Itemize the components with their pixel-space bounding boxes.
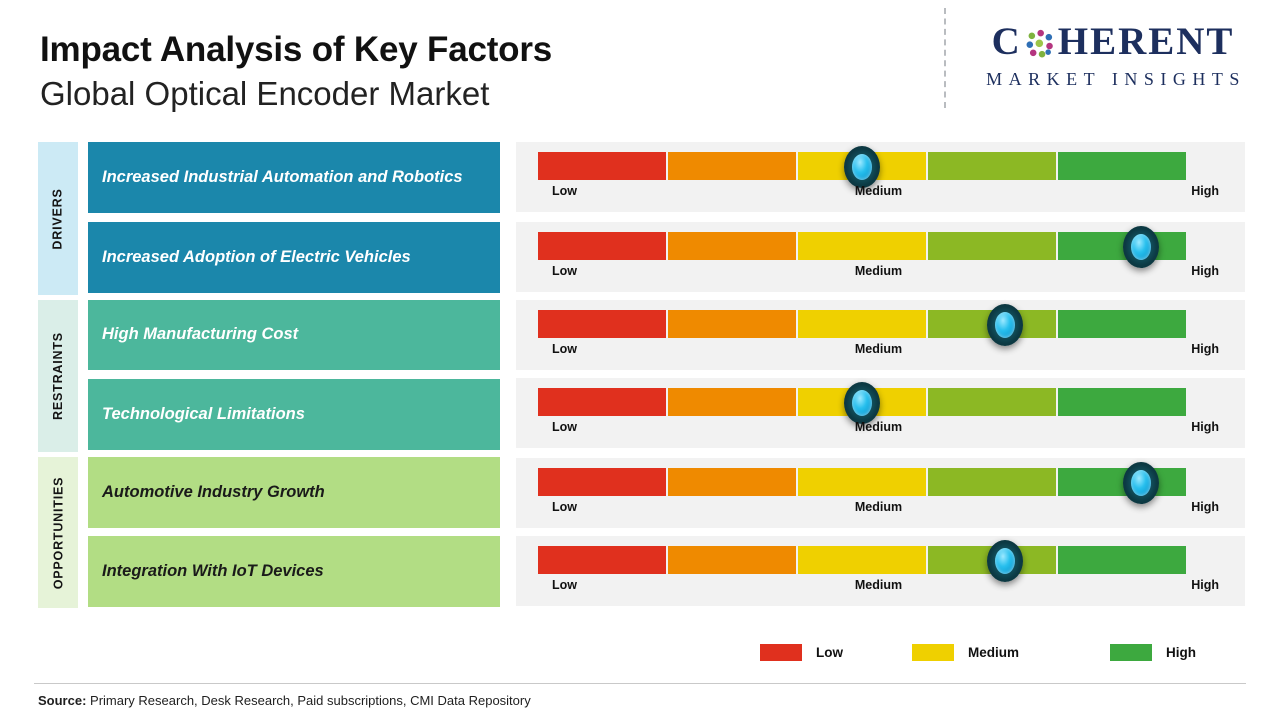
scale-segment xyxy=(1058,152,1186,180)
category-strip-opportunities: OPPORTUNITIES xyxy=(38,457,78,608)
impact-scale-bar xyxy=(538,232,1186,260)
scale-label-medium: Medium xyxy=(855,420,902,434)
scale-label-medium: Medium xyxy=(855,342,902,356)
scale-tick-labels: Low Medium High xyxy=(538,420,1219,438)
impact-scale-bar xyxy=(538,546,1186,574)
category-strip-restraints: RESTRAINTS xyxy=(38,300,78,452)
gauge-panel: Low Medium High xyxy=(516,536,1245,606)
legend-swatch-high xyxy=(1110,644,1152,661)
scale-segment xyxy=(668,546,798,574)
scale-tick-labels: Low Medium High xyxy=(538,184,1219,202)
legend-label: High xyxy=(1166,645,1196,660)
legend-swatch-low xyxy=(760,644,802,661)
scale-segment xyxy=(538,152,668,180)
category-label: DRIVERS xyxy=(51,188,65,249)
legend-label: Medium xyxy=(968,645,1019,660)
scale-tick-labels: Low Medium High xyxy=(538,264,1219,282)
impact-marker[interactable] xyxy=(844,146,880,188)
scale-segment xyxy=(538,232,668,260)
scale-label-high: High xyxy=(1191,264,1219,278)
scale-label-high: High xyxy=(1191,420,1219,434)
scale-segment xyxy=(1058,310,1186,338)
factor-box[interactable]: Increased Industrial Automation and Robo… xyxy=(88,142,500,213)
legend-item-low: Low xyxy=(760,644,843,661)
gauge-panel: Low Medium High xyxy=(516,222,1245,292)
scale-segment xyxy=(538,388,668,416)
impact-scale-bar xyxy=(538,310,1186,338)
scale-segment xyxy=(798,468,928,496)
impact-marker[interactable] xyxy=(987,304,1023,346)
footer-divider xyxy=(34,683,1246,684)
scale-label-low: Low xyxy=(552,420,577,434)
factor-label: Integration With IoT Devices xyxy=(102,561,324,582)
impact-marker[interactable] xyxy=(987,540,1023,582)
impact-marker[interactable] xyxy=(1123,462,1159,504)
scale-segment xyxy=(668,310,798,338)
category-label: OPPORTUNITIES xyxy=(51,476,65,589)
factor-label: Increased Adoption of Electric Vehicles xyxy=(102,247,411,268)
source-note: Source: Primary Research, Desk Research,… xyxy=(38,693,531,708)
gauge-panel: Low Medium High xyxy=(516,378,1245,448)
impact-matrix: DRIVERS RESTRAINTS OPPORTUNITIES Increas… xyxy=(0,0,1280,720)
scale-segment xyxy=(928,468,1058,496)
factor-label: Automotive Industry Growth xyxy=(102,482,325,503)
scale-segment xyxy=(928,152,1058,180)
scale-segment xyxy=(928,388,1058,416)
legend-swatch-medium xyxy=(912,644,954,661)
scale-label-high: High xyxy=(1191,500,1219,514)
factor-box[interactable]: Automotive Industry Growth xyxy=(88,457,500,528)
legend: Low Medium High xyxy=(760,644,1200,670)
scale-tick-labels: Low Medium High xyxy=(538,500,1219,518)
gauge-panel: Low Medium High xyxy=(516,458,1245,528)
scale-label-medium: Medium xyxy=(855,500,902,514)
scale-segment xyxy=(668,468,798,496)
source-label: Source: xyxy=(38,693,86,708)
category-label: RESTRAINTS xyxy=(51,332,65,420)
scale-tick-labels: Low Medium High xyxy=(538,578,1219,596)
scale-label-high: High xyxy=(1191,578,1219,592)
gauge-panel: Low Medium High xyxy=(516,300,1245,370)
factor-label: High Manufacturing Cost xyxy=(102,324,298,345)
factor-box[interactable]: Integration With IoT Devices xyxy=(88,536,500,607)
factor-label: Increased Industrial Automation and Robo… xyxy=(102,167,463,188)
scale-label-low: Low xyxy=(552,342,577,356)
impact-scale-bar xyxy=(538,468,1186,496)
scale-label-medium: Medium xyxy=(855,184,902,198)
scale-segment xyxy=(668,232,798,260)
scale-label-low: Low xyxy=(552,264,577,278)
scale-label-low: Low xyxy=(552,578,577,592)
factor-box[interactable]: High Manufacturing Cost xyxy=(88,300,500,370)
category-strip-drivers: DRIVERS xyxy=(38,142,78,295)
scale-segment xyxy=(1058,546,1186,574)
scale-segment xyxy=(668,152,798,180)
source-text: Primary Research, Desk Research, Paid su… xyxy=(86,693,530,708)
gauge-panel: Low Medium High xyxy=(516,142,1245,212)
scale-segment xyxy=(538,310,668,338)
scale-tick-labels: Low Medium High xyxy=(538,342,1219,360)
scale-label-low: Low xyxy=(552,184,577,198)
scale-segment xyxy=(668,388,798,416)
impact-marker[interactable] xyxy=(1123,226,1159,268)
scale-segment xyxy=(798,232,928,260)
scale-label-high: High xyxy=(1191,184,1219,198)
scale-segment xyxy=(928,232,1058,260)
factor-box[interactable]: Technological Limitations xyxy=(88,379,500,450)
scale-segment xyxy=(1058,388,1186,416)
scale-label-high: High xyxy=(1191,342,1219,356)
scale-label-low: Low xyxy=(552,500,577,514)
legend-item-high: High xyxy=(1110,644,1196,661)
factor-label: Technological Limitations xyxy=(102,404,305,425)
scale-segment xyxy=(538,468,668,496)
legend-item-medium: Medium xyxy=(912,644,1019,661)
scale-label-medium: Medium xyxy=(855,264,902,278)
scale-segment xyxy=(538,546,668,574)
scale-label-medium: Medium xyxy=(855,578,902,592)
scale-segment xyxy=(798,546,928,574)
scale-segment xyxy=(798,310,928,338)
factor-box[interactable]: Increased Adoption of Electric Vehicles xyxy=(88,222,500,293)
legend-label: Low xyxy=(816,645,843,660)
impact-marker[interactable] xyxy=(844,382,880,424)
